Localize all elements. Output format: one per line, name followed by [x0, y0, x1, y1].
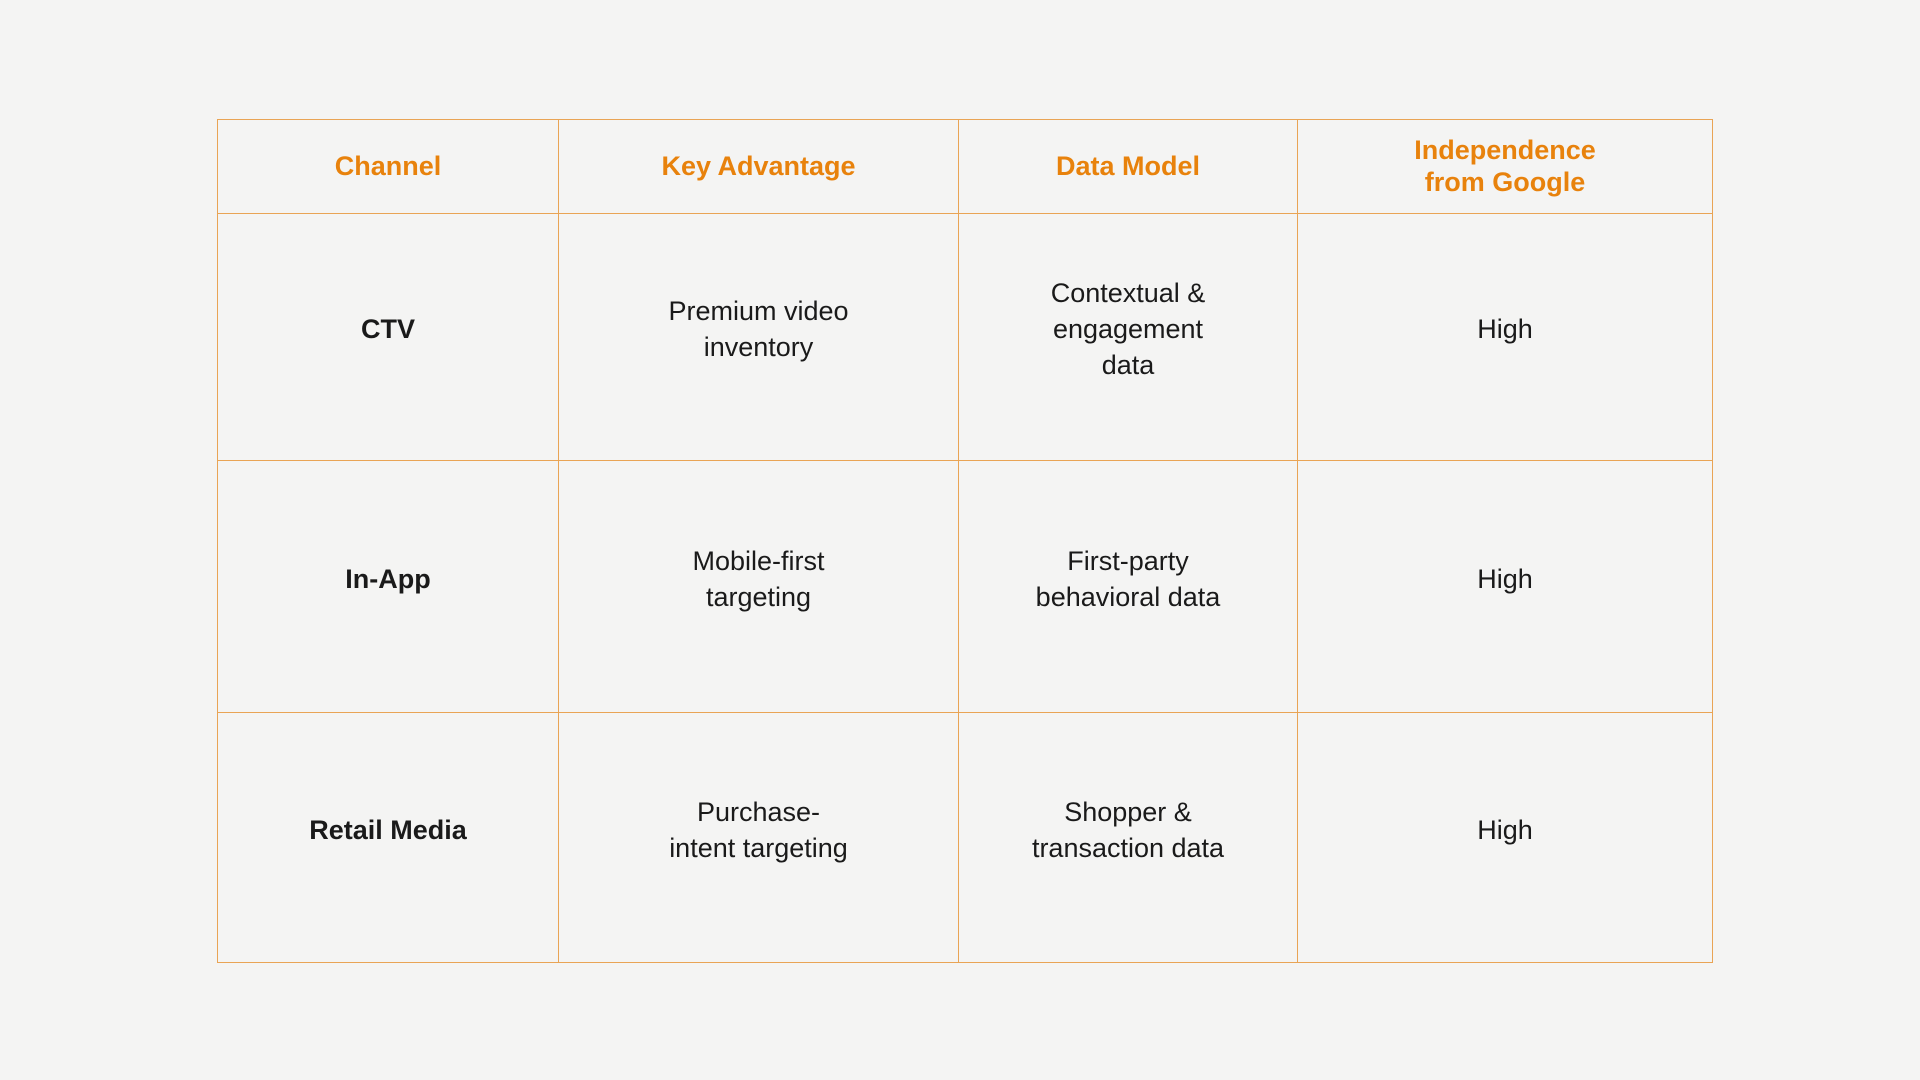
cell-data-model: Shopper & transaction data — [959, 713, 1298, 963]
column-header-independence-from-google: Independence from Google — [1298, 120, 1713, 214]
cell-text: High — [1312, 562, 1698, 598]
cell-text: High — [1312, 813, 1698, 849]
comparison-table-container: Channel Key Advantage Data Model Indepen… — [217, 119, 1712, 962]
table-row: In-App Mobile-first targeting First-part… — [218, 461, 1713, 713]
column-header-data-model: Data Model — [959, 120, 1298, 214]
cell-data-model: Contextual & engagement data — [959, 214, 1298, 461]
cell-independence: High — [1298, 461, 1713, 713]
cell-channel: CTV — [218, 214, 559, 461]
cell-text: Purchase- intent targeting — [573, 795, 944, 867]
table-body: CTV Premium video inventory Contextual &… — [218, 214, 1713, 963]
cell-key-advantage: Premium video inventory — [559, 214, 959, 461]
cell-text: In-App — [232, 562, 544, 598]
cell-independence: High — [1298, 713, 1713, 963]
cell-key-advantage: Purchase- intent targeting — [559, 713, 959, 963]
cell-channel: In-App — [218, 461, 559, 713]
column-header-key-advantage: Key Advantage — [559, 120, 959, 214]
cell-data-model: First-party behavioral data — [959, 461, 1298, 713]
table-header-row: Channel Key Advantage Data Model Indepen… — [218, 120, 1713, 214]
cell-text: Mobile-first targeting — [573, 544, 944, 616]
cell-text: Premium video inventory — [573, 294, 944, 366]
cell-text: CTV — [232, 312, 544, 348]
cell-text: Retail Media — [232, 813, 544, 849]
channel-comparison-table: Channel Key Advantage Data Model Indepen… — [217, 119, 1713, 963]
cell-text: Contextual & engagement data — [973, 276, 1283, 384]
table-row: CTV Premium video inventory Contextual &… — [218, 214, 1713, 461]
table-header: Channel Key Advantage Data Model Indepen… — [218, 120, 1713, 214]
column-header-channel: Channel — [218, 120, 559, 214]
cell-text: First-party behavioral data — [973, 544, 1283, 616]
cell-text: High — [1312, 312, 1698, 348]
cell-channel: Retail Media — [218, 713, 559, 963]
cell-key-advantage: Mobile-first targeting — [559, 461, 959, 713]
cell-text: Shopper & transaction data — [973, 795, 1283, 867]
cell-independence: High — [1298, 214, 1713, 461]
table-row: Retail Media Purchase- intent targeting … — [218, 713, 1713, 963]
